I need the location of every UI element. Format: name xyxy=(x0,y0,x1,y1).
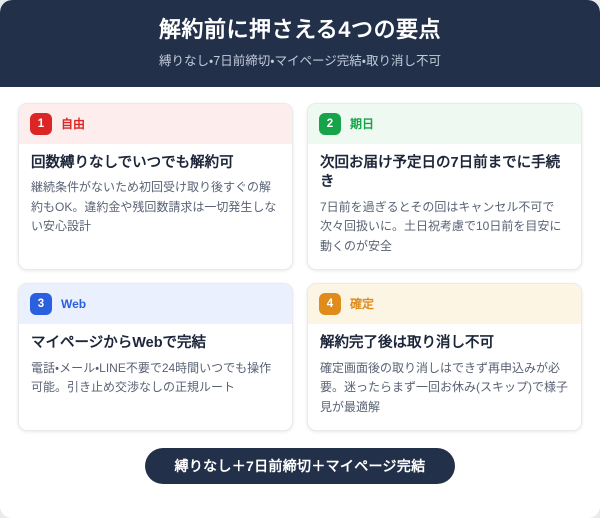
card-header-2: 2 期日 xyxy=(308,104,581,144)
card-body-1: 回数縛りなしでいつでも解約可 継続条件がないため初回受け取り後すぐの解約もOK。… xyxy=(19,144,292,269)
card-header-4: 4 確定 xyxy=(308,284,581,324)
number-badge-4: 4 xyxy=(319,293,341,315)
point-card-2[interactable]: 2 期日 次回お届け予定日の7日前までに手続き 7日前を過ぎるとその回はキャンセ… xyxy=(307,103,582,270)
card-body-4: 解約完了後は取り消し不可 確定画面後の取り消しはできず再申込みが必要。迷ったらま… xyxy=(308,324,581,430)
card-body-2: 次回お届け予定日の7日前までに手続き 7日前を過ぎるとその回はキャンセル不可で次… xyxy=(308,144,581,269)
card-description-3: 電話・メール・LINE不要で24時間いつでも操作可能。引き止め交渉なしの正規ルー… xyxy=(31,359,280,398)
card-title-2: 次回お届け予定日の7日前までに手続き xyxy=(320,154,569,193)
page-footer: 縛りなし＋7日前締切＋マイページ完結 xyxy=(0,431,600,484)
card-description-4: 確定画面後の取り消しはできず再申込みが必要。迷ったらまず一回お休み(スキップ)で… xyxy=(320,359,569,417)
point-card-4[interactable]: 4 確定 解約完了後は取り消し不可 確定画面後の取り消しはできず再申込みが必要。… xyxy=(307,283,582,431)
point-card-1[interactable]: 1 自由 回数縛りなしでいつでも解約可 継続条件がないため初回受け取り後すぐの解… xyxy=(18,103,293,270)
card-header-3: 3 Web xyxy=(19,284,292,324)
card-title-1: 回数縛りなしでいつでも解約可 xyxy=(31,154,280,174)
card-title-4: 解約完了後は取り消し不可 xyxy=(320,334,569,354)
number-badge-3: 3 xyxy=(30,293,52,315)
points-grid: 1 自由 回数縛りなしでいつでも解約可 継続条件がないため初回受け取り後すぐの解… xyxy=(0,87,600,431)
page-subtitle: 縛りなし・7日前締切・マイページ完結・取り消し不可 xyxy=(20,53,580,69)
summary-card-page: 解約前に押さえる4つの要点 縛りなし・7日前締切・マイページ完結・取り消し不可 … xyxy=(0,0,600,518)
page-title: 解約前に押さえる4つの要点 xyxy=(20,16,580,44)
card-title-3: マイページからWebで完結 xyxy=(31,334,280,354)
card-description-2: 7日前を過ぎるとその回はキャンセル不可で次々回扱いに。土日祝考慮で10日前を目安… xyxy=(320,198,569,256)
card-chip-label-3: Web xyxy=(61,298,86,310)
card-chip-label-1: 自由 xyxy=(61,118,85,130)
number-badge-1: 1 xyxy=(30,113,52,135)
page-header: 解約前に押さえる4つの要点 縛りなし・7日前締切・マイページ完結・取り消し不可 xyxy=(0,0,600,87)
card-chip-label-2: 期日 xyxy=(350,118,374,130)
card-chip-label-4: 確定 xyxy=(350,298,374,310)
number-badge-2: 2 xyxy=(319,113,341,135)
card-description-1: 継続条件がないため初回受け取り後すぐの解約もOK。違約金や残回数請求は一切発生し… xyxy=(31,178,280,236)
card-body-3: マイページからWebで完結 電話・メール・LINE不要で24時間いつでも操作可能… xyxy=(19,324,292,430)
card-header-1: 1 自由 xyxy=(19,104,292,144)
point-card-3[interactable]: 3 Web マイページからWebで完結 電話・メール・LINE不要で24時間いつ… xyxy=(18,283,293,431)
summary-pill-button[interactable]: 縛りなし＋7日前締切＋マイページ完結 xyxy=(145,448,456,484)
